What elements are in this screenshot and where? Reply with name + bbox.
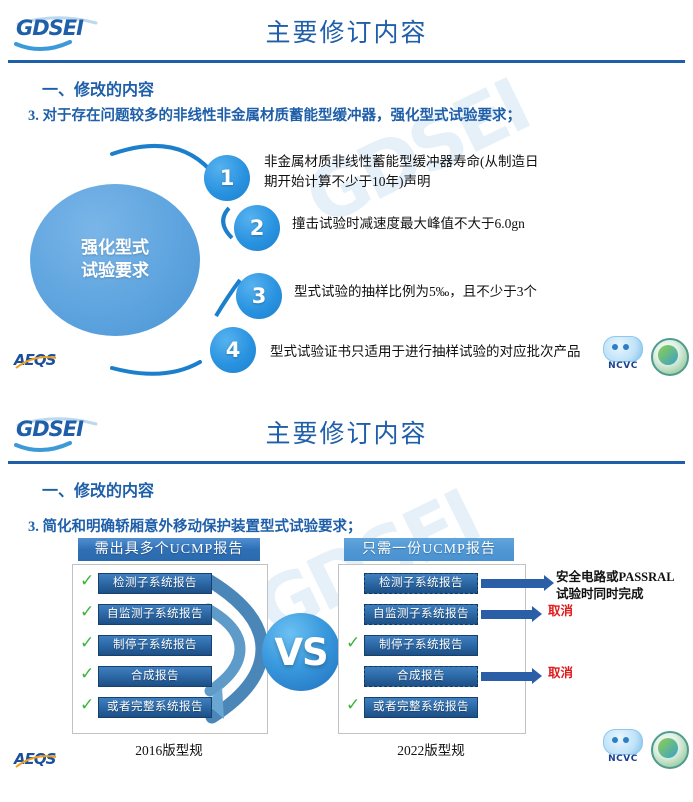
left-check-icon-4: ✓ [80,666,94,683]
right-panel-caption: 2022版型规 [338,739,524,759]
left-check-icon-2: ✓ [80,604,94,621]
node-3[interactable]: 3 [236,273,282,319]
node-1[interactable]: 1 [204,155,250,201]
note-1: 安全电路或PASSRAL 试验时同时完成 [556,569,675,603]
bullet-text-1: 非金属材质非线性蓄能型缓冲器寿命(从制造日 期开始计算不少于10年)声明 [264,152,539,191]
node-4[interactable]: 4 [210,327,256,373]
left-check-icon-1: ✓ [80,573,94,590]
ncvc-label: NCVC [597,361,649,371]
left-panel-header: 需出具多个UCMP报告 [78,538,260,561]
section-heading-1: 一、修改的内容 [42,477,154,501]
left-chip-2[interactable]: 自监测子系统报告 [98,604,212,625]
right-chip-4[interactable]: 合成报告 [364,666,478,687]
arrow-note-3 [481,672,533,681]
right-check-icon-5: ✓ [346,697,360,714]
bullet-text-3: 型式试验的抽样比例为5‰，且不少于3个 [294,282,537,302]
green-seal-inner-icon [658,738,678,758]
green-certification-seal-icon [651,731,689,769]
note-2: 取消 [548,603,573,620]
left-check-icon-5: ✓ [80,697,94,714]
slide-2: GDSEI GDSEI 主要修订内容 一、修改的内容 3. 简化和明确轿厢意外移… [0,401,693,802]
slide-1: GDSEI GDSEI 主要修订内容 一、修改的内容 3. 对于存在问题较多的非… [0,0,693,401]
right-chip-1[interactable]: 检测子系统报告 [364,573,478,594]
slide-header: GDSEI 主要修订内容 [0,0,693,64]
right-chip-2[interactable]: 自监测子系统报告 [364,604,478,625]
hub-label-line2: 试验要求 [81,261,149,281]
aeqs-logo: AEQS [14,350,58,372]
ncvc-logo: NCVC [597,336,649,376]
note-3: 取消 [548,665,573,682]
vs-badge: VS [262,613,340,691]
aeqs-logo: AEQS [14,749,58,771]
hub-circle: 强化型式 试验要求 [30,184,200,336]
slide-header: GDSEI 主要修订内容 [0,401,693,465]
right-panel-header: 只需一份UCMP报告 [344,538,514,561]
right-chip-3[interactable]: 制停子系统报告 [364,635,478,656]
bullet-text-4: 型式试验证书只适用于进行抽样试验的对应批次产品 [270,342,581,362]
arrow-note-2 [481,610,533,619]
aeqs-swoosh-icon [14,749,58,771]
right-chip-5[interactable]: 或者完整系统报告 [364,697,478,718]
note-1-line2: 试验时同时完成 [556,586,675,603]
aeqs-swoosh-icon [14,350,58,372]
ncvc-label: NCVC [597,754,649,764]
ncvc-eye-left-icon [612,737,618,743]
hub-label: 强化型式 试验要求 [81,237,149,283]
left-chip-5[interactable]: 或者完整系统报告 [98,697,212,718]
page-title: 主要修订内容 [0,414,693,450]
left-chip-4[interactable]: 合成报告 [98,666,212,687]
header-divider [8,461,685,464]
ncvc-eye-left-icon [612,344,618,350]
node-2[interactable]: 2 [234,205,280,251]
bullet-text-1-line2: 期开始计算不少于10年)声明 [264,172,539,192]
left-chip-3[interactable]: 制停子系统报告 [98,635,212,656]
green-seal-inner-icon [658,345,678,365]
left-check-icon-3: ✓ [80,635,94,652]
note-1-line1: 安全电路或PASSRAL [556,569,675,586]
green-certification-seal-icon [651,338,689,376]
arrow-note-1 [481,579,545,588]
right-check-icon-3: ✓ [346,635,360,652]
bullet-text-2: 撞击试验时减速度最大峰值不大于6.0gn [292,214,525,234]
left-chip-1[interactable]: 检测子系统报告 [98,573,212,594]
ncvc-eye-right-icon [623,737,629,743]
section-heading-1: 一、修改的内容 [42,76,154,100]
hub-label-line1: 强化型式 [81,238,149,258]
ncvc-logo: NCVC [597,729,649,769]
page-title: 主要修订内容 [0,13,693,49]
section-heading-2: 3. 简化和明确轿厢意外移动保护装置型式试验要求； [28,515,362,536]
bullet-text-1-line1: 非金属材质非线性蓄能型缓冲器寿命(从制造日 [264,152,539,172]
section-heading-2: 3. 对于存在问题较多的非线性非金属材质蓄能型缓冲器，强化型式试验要求； [28,104,521,125]
header-divider [8,60,685,63]
left-panel-caption: 2016版型规 [72,739,266,759]
ncvc-eye-right-icon [623,344,629,350]
